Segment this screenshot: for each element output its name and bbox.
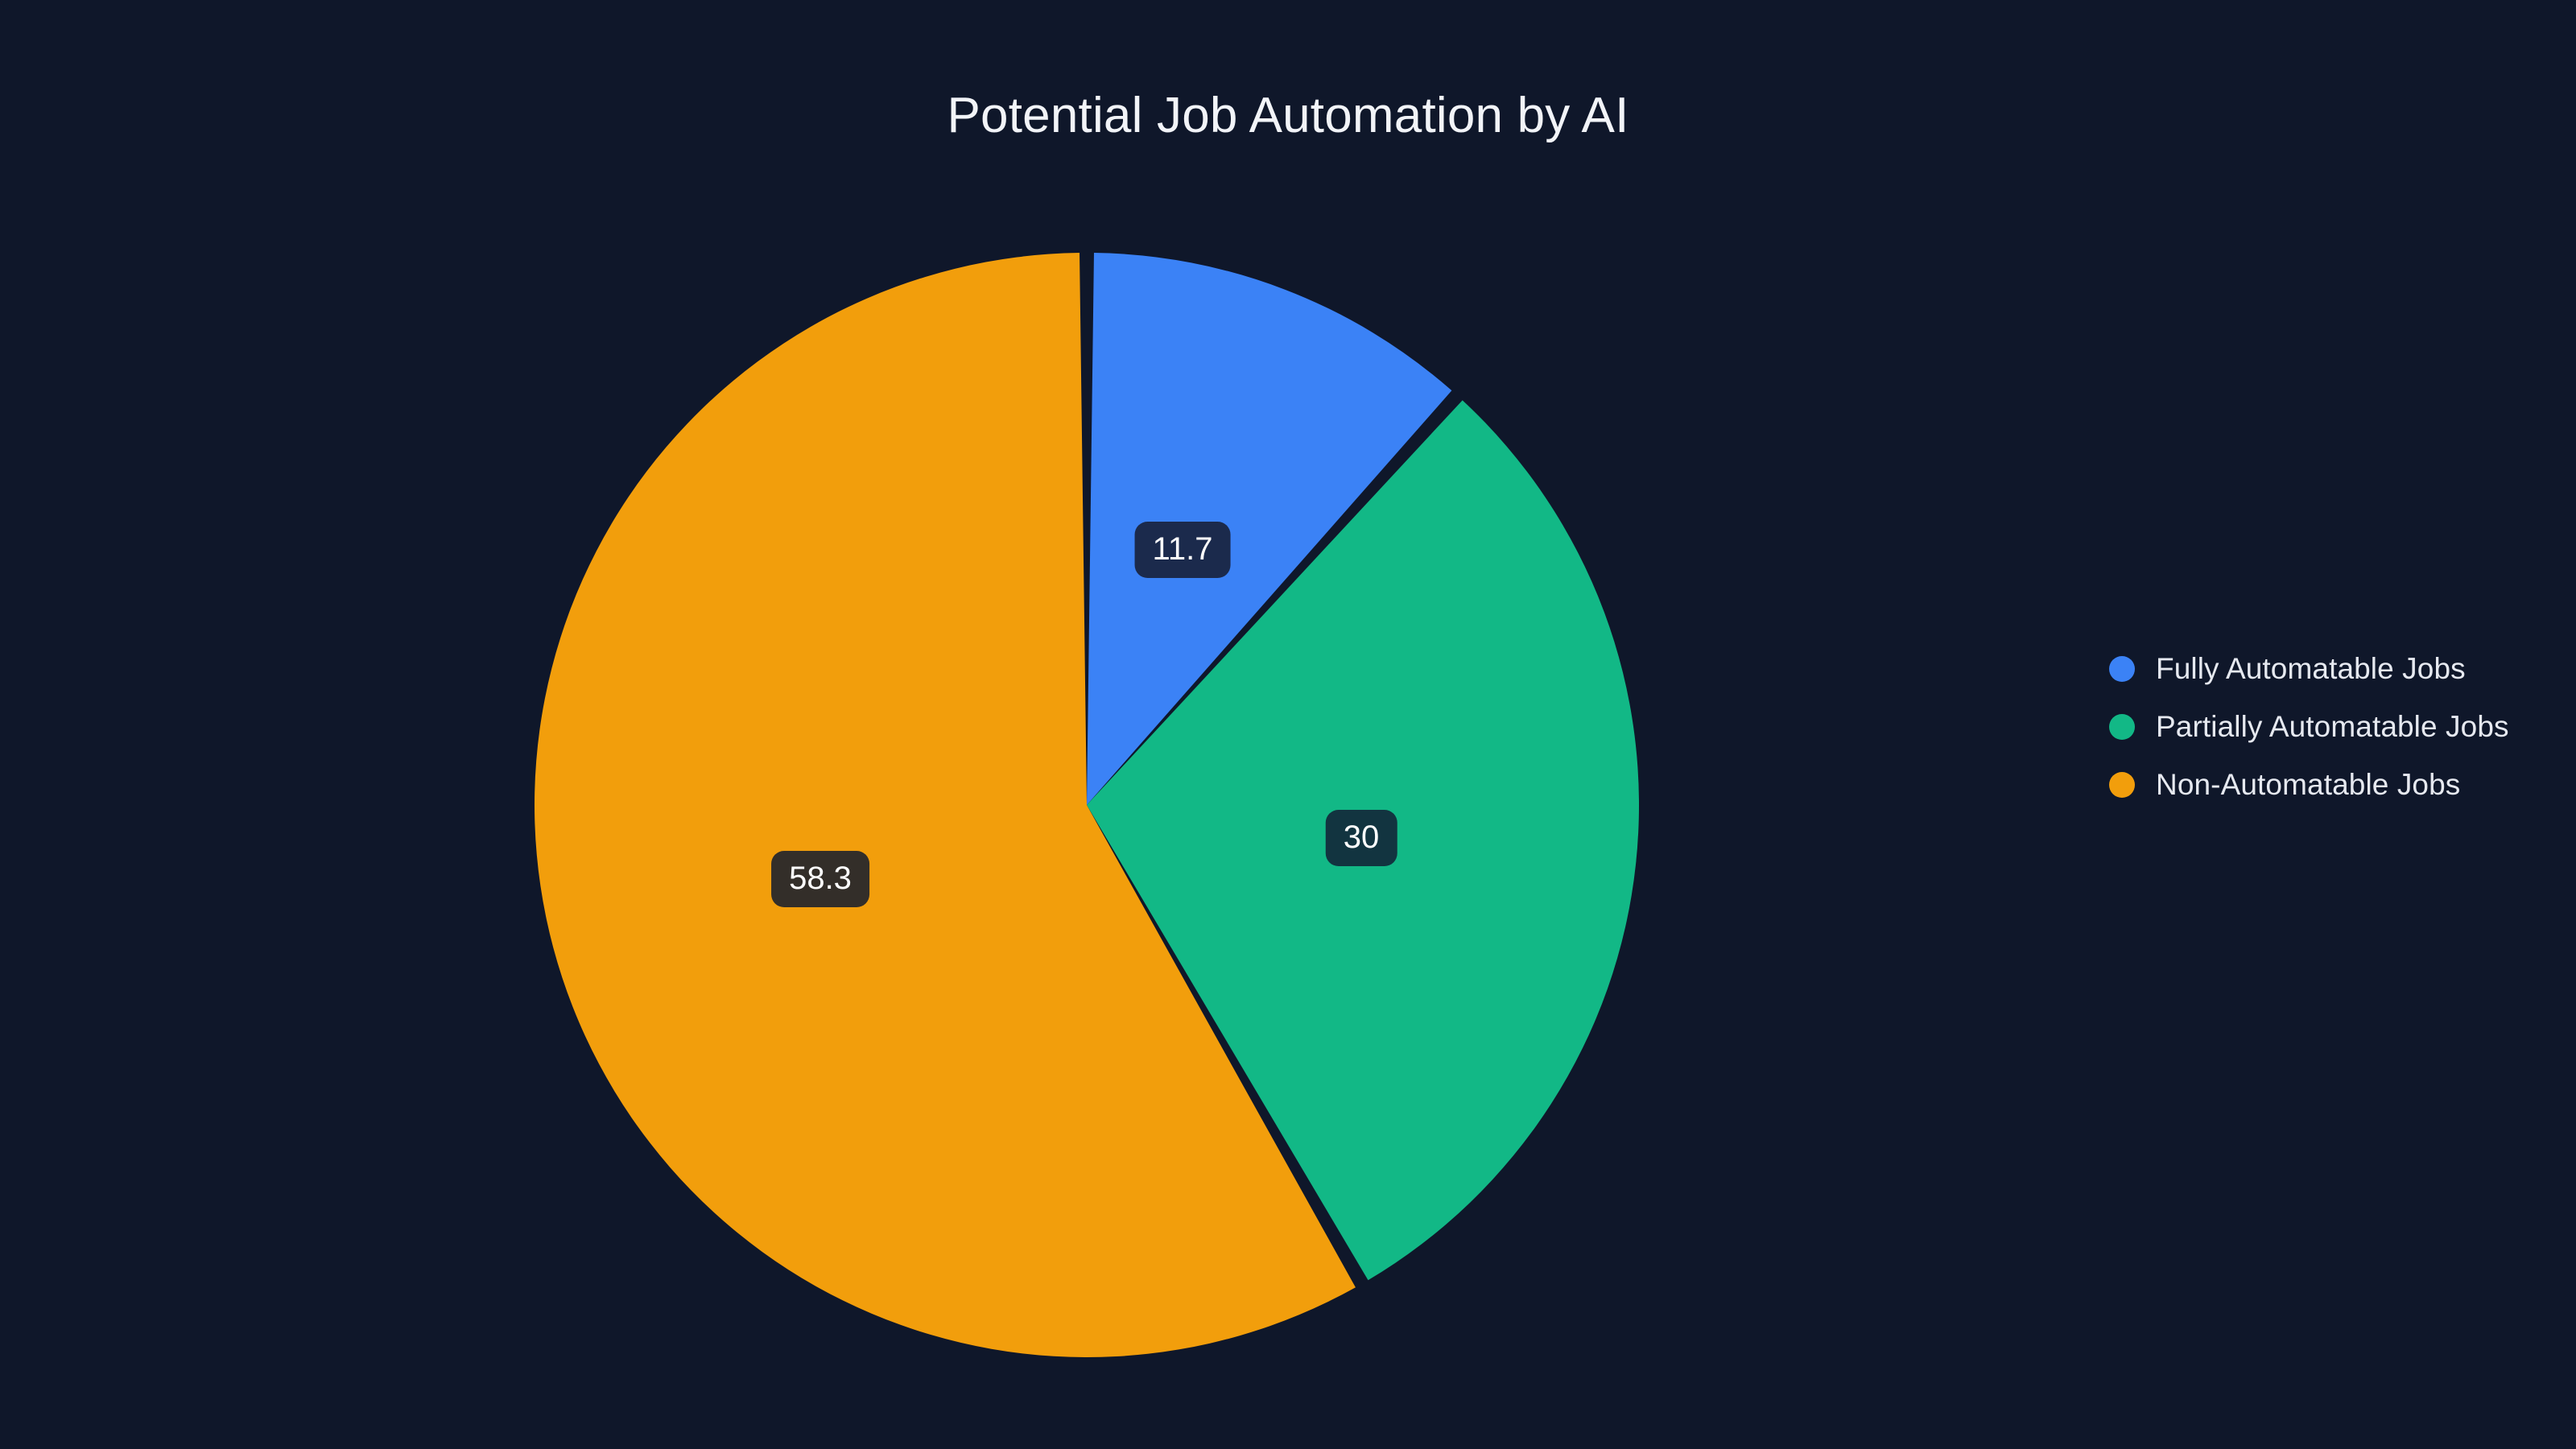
- pie-slice-group: [535, 253, 1639, 1357]
- pie-slice-value-label: 11.7: [1135, 522, 1231, 578]
- legend-item[interactable]: Partially Automatable Jobs: [2109, 698, 2528, 756]
- pie-chart: 11.73058.3: [0, 0, 2061, 1449]
- legend-item[interactable]: Non-Automatable Jobs: [2109, 756, 2528, 814]
- circle-marker-icon: [2109, 656, 2135, 682]
- legend-item-label: Non-Automatable Jobs: [2156, 768, 2460, 802]
- pie-slice-value-label: 30: [1326, 810, 1397, 866]
- pie-slice-value-label: 58.3: [771, 851, 869, 907]
- circle-marker-icon: [2109, 772, 2135, 798]
- chart-root: Potential Job Automation by AI 11.73058.…: [0, 0, 2576, 1449]
- circle-marker-icon: [2109, 714, 2135, 740]
- legend: Fully Automatable JobsPartially Automata…: [2109, 640, 2528, 814]
- legend-item-label: Partially Automatable Jobs: [2156, 710, 2509, 744]
- legend-item[interactable]: Fully Automatable Jobs: [2109, 640, 2528, 698]
- legend-item-label: Fully Automatable Jobs: [2156, 652, 2466, 686]
- pie-chart-svg: [0, 0, 2061, 1449]
